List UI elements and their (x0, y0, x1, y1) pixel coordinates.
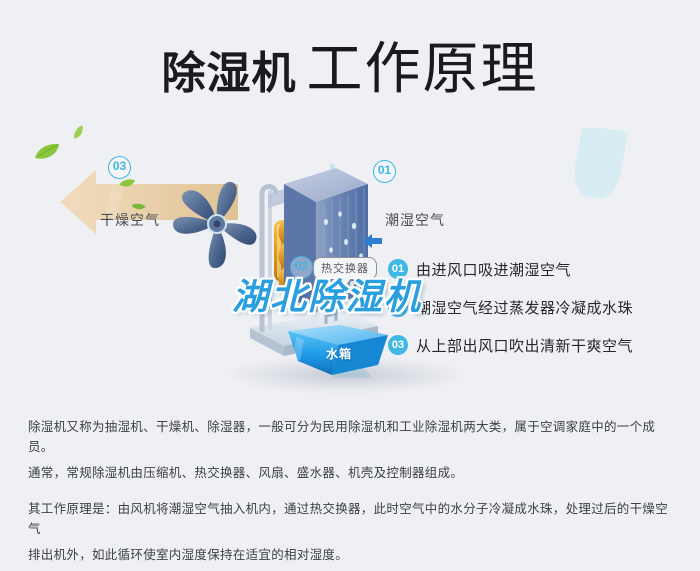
page-title-part1: 除湿机 (162, 49, 297, 98)
page-title: 除湿机工作原理 (0, 24, 700, 105)
step-text: 潮湿空气经过蒸发器冷凝成水珠 (416, 297, 633, 318)
paragraph-4: 排出机外，如此循环使室内湿度保持在适宜的相对湿度。 (28, 545, 676, 565)
list-item: 01 由进风口吸进潮湿空气 (388, 258, 688, 296)
badge-01-humid-air: 01 (373, 160, 396, 183)
step-text: 从上部出风口吹出清新干爽空气 (416, 335, 633, 356)
list-item: 03 从上部出风口吹出清新干爽空气 (388, 334, 688, 372)
leaf-icon (70, 125, 87, 141)
steps-list: 01 由进风口吸进潮湿空气 02 潮湿空气经过蒸发器冷凝成水珠 03 从上部出风… (388, 258, 688, 372)
list-item: 02 潮湿空气经过蒸发器冷凝成水珠 (388, 296, 688, 334)
step-text: 由进风口吸进潮湿空气 (416, 259, 571, 280)
page-title-part2: 工作原理 (307, 37, 539, 100)
paragraph-1: 除湿机又称为抽湿机、干燥机、除湿器，一般可分为民用除湿机和工业除湿机两大类，属于… (28, 417, 676, 457)
water-tank-label: 水箱 (326, 345, 352, 362)
label-dry-air: 干燥空气 (100, 210, 160, 230)
step-badge: 03 (388, 335, 408, 355)
paragraph-2: 通常，常规除湿机由压缩机、热交换器、风扇、盛水器、机壳及控制器组成。 (28, 463, 676, 483)
leaf-icon (34, 143, 60, 161)
body-copy: 除湿机又称为抽湿机、干燥机、除湿器，一般可分为民用除湿机和工业除湿机两大类，属于… (28, 417, 676, 571)
badge-03-dry-air: 03 (108, 156, 131, 179)
label-humid-air: 潮湿空气 (385, 210, 445, 230)
watermark: 湖北除湿机 (232, 268, 422, 320)
paragraph-3: 其工作原理是：由风机将潮湿空气抽入机内，通过热交换器，此时空气中的水分子冷凝成水… (28, 499, 676, 539)
